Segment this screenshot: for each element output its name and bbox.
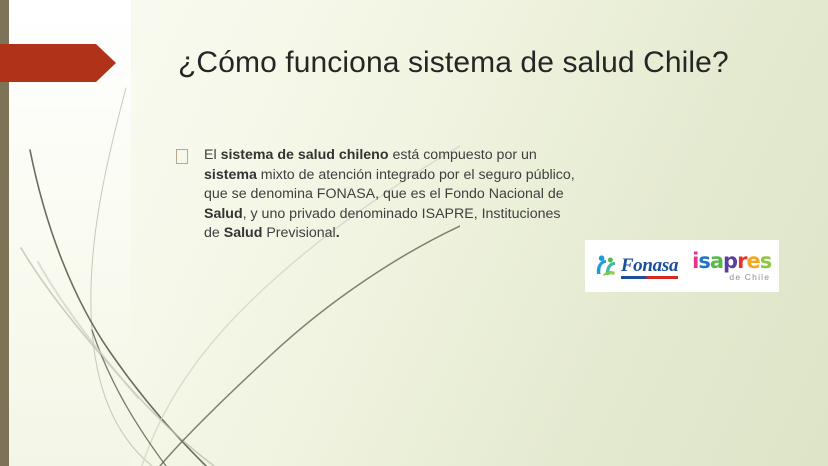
- isapres-letter-p: p: [723, 249, 737, 273]
- fonasa-wordmark-text: Fonasa: [621, 255, 678, 276]
- isapres-wordmark: isapres: [692, 251, 771, 272]
- list-item-text: El sistema de salud chileno está compues…: [204, 146, 576, 244]
- isapres-subtitle: de Chile: [729, 273, 770, 282]
- left-accent-bar: [0, 0, 9, 466]
- fonasa-people-icon: [593, 254, 619, 278]
- list-item: El sistema de salud chileno está compues…: [176, 146, 576, 244]
- isapres-letter-a: a: [710, 249, 723, 273]
- fonasa-wordmark: Fonasa: [621, 256, 678, 276]
- left-light-panel: [9, 0, 131, 466]
- isapres-letter-s2: s: [760, 249, 772, 273]
- isapres-logo: isapres de Chile: [692, 251, 771, 282]
- slide-canvas: ¿Cómo funciona sistema de salud Chile? E…: [0, 0, 828, 466]
- fonasa-logo: Fonasa: [593, 254, 678, 278]
- page-title: ¿Cómo funciona sistema de salud Chile?: [178, 44, 798, 82]
- isapres-letter-e: e: [746, 249, 759, 273]
- hollow-square-bullet-icon: [176, 149, 188, 164]
- logos-image: Fonasa isapres de Chile: [585, 240, 779, 292]
- isapres-letter-s: s: [698, 249, 710, 273]
- content-placeholder: El sistema de salud chileno está compues…: [176, 146, 576, 244]
- fonasa-underline: [621, 276, 678, 279]
